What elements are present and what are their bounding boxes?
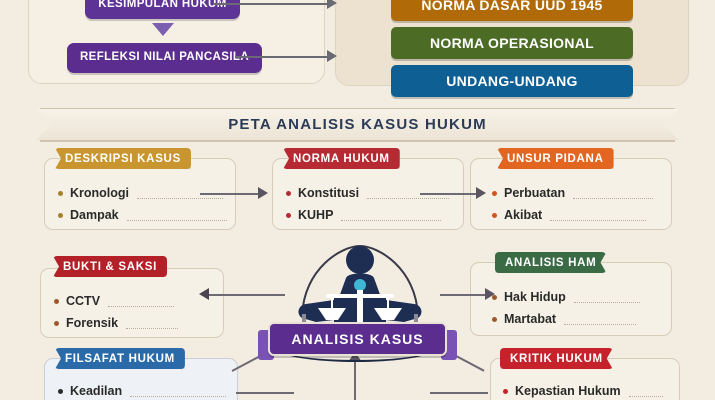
list-item-label: Akibat [504,208,542,222]
alur-kesimpulan-panel: KESIMPULAN HUKUM REFLEKSI NILAI PANCASIL… [28,0,325,84]
list-item-label: Kronologi [70,186,129,200]
arrow-right-icon [476,187,486,199]
bullet-dot-icon [58,213,63,218]
fill-in-line [564,324,636,325]
arrow-right-icon [258,187,268,199]
card-title-kritik-hukum: KRITIK HUKUM [500,348,613,369]
card-title-filsafat-hukum: FILSAFAT HUKUM [55,348,185,369]
list-item-label: Dampak [70,208,119,222]
step-refleksi-nilai-pancasila[interactable]: REFLEKSI NILAI PANCASILA [67,43,262,73]
hierarki-norma-panel: NORMA DASAR UUD 1945 NORMA OPERASIONAL U… [335,0,689,86]
bullet-dot-icon [503,389,508,394]
norma-operasional[interactable]: NORMA OPERASIONAL [391,27,633,59]
fill-in-line [573,198,653,199]
connector-line [430,392,488,394]
list-item: Akibat [492,204,653,226]
list-item-label: Martabat [504,312,556,326]
list-item: Dampak [58,204,227,226]
bullet-list-unsur-pidana: Perbuatan Akibat [492,182,653,226]
arrow-down-icon [152,23,174,36]
connector-line [236,392,294,394]
list-item-label: KUHP [298,208,333,222]
list-item: Hak Hidup [492,286,640,308]
center-label-analisis-kasus[interactable]: ANALISIS KASUS [268,322,447,356]
bullet-dot-icon [492,317,497,322]
connector-line [209,294,285,296]
arrow-right-icon [327,50,337,62]
connector-line [235,56,328,58]
connector-line [420,193,478,195]
card-title-bukti-saksi: BUKTI & SAKSI [53,256,167,277]
bullet-list-analisis-ham: Hak Hidup Martabat [492,286,640,330]
connector-line [440,294,488,296]
bullet-dot-icon [286,191,291,196]
list-item-label: Konstitusi [298,186,359,200]
card-title-deskripsi-kasus: DESKRIPSI KASUS [55,148,191,169]
connector-line [354,360,356,400]
infographic-canvas: KESIMPULAN HUKUM REFLEKSI NILAI PANCASIL… [0,0,715,400]
card-title-unsur-pidana: UNSUR PIDANA [497,148,614,169]
list-item: Keadilan [58,380,226,400]
fill-in-line [126,328,178,329]
list-item: Kepastian Hukum [503,380,663,400]
top-section: KESIMPULAN HUKUM REFLEKSI NILAI PANCASIL… [0,0,715,92]
connector-line [213,3,328,5]
fill-in-line [127,220,227,221]
norma-dasar-uud-1945[interactable]: NORMA DASAR UUD 1945 [391,0,633,21]
list-item-label: Kepastian Hukum [515,384,621,398]
list-item-label: Keadilan [70,384,122,398]
divider-bottom [40,140,675,142]
bullet-dot-icon [58,191,63,196]
card-title-norma-hukum: NORMA HUKUM [283,148,400,169]
bullet-dot-icon [286,213,291,218]
list-item: KUHP [286,204,449,226]
undang-undang[interactable]: UNDANG-UNDANG [391,65,633,97]
bullet-dot-icon [492,191,497,196]
list-item-label: Perbuatan [504,186,565,200]
fill-in-line [130,396,226,397]
list-item-label: CCTV [66,294,100,308]
bullet-list-norma-hukum: Konstitusi KUHP [286,182,449,226]
fill-in-line [574,302,640,303]
bullet-list-filsafat-hukum: Keadilan [58,380,226,400]
list-item: Martabat [492,308,640,330]
list-item-label: Hak Hidup [504,290,566,304]
list-item-label: Forensik [66,316,118,330]
fill-in-line [137,198,223,199]
bullet-list-bukti-saksi: CCTV Forensik [54,290,178,334]
bullet-dot-icon [54,299,59,304]
bullet-dot-icon [492,213,497,218]
page-title: PETA ANALISIS KASUS HUKUM [36,109,679,140]
fill-in-line [367,198,449,199]
arrow-right-icon [485,288,495,300]
list-item: CCTV [54,290,178,312]
bullet-list-deskripsi-kasus: Kronologi Dampak [58,182,227,226]
fill-in-line [108,306,174,307]
bullet-dot-icon [54,321,59,326]
fill-in-line [341,220,441,221]
list-item: Perbuatan [492,182,653,204]
connector-line [200,193,260,195]
arrow-left-icon [199,288,209,300]
fill-in-line [629,396,663,397]
arrow-right-icon [327,0,337,9]
fill-in-line [550,220,646,221]
list-item: Forensik [54,312,178,334]
card-title-analisis-ham: ANALISIS HAM [495,252,606,273]
bullet-dot-icon [58,389,63,394]
bullet-list-kritik-hukum: Kepastian Hukum [503,380,663,400]
